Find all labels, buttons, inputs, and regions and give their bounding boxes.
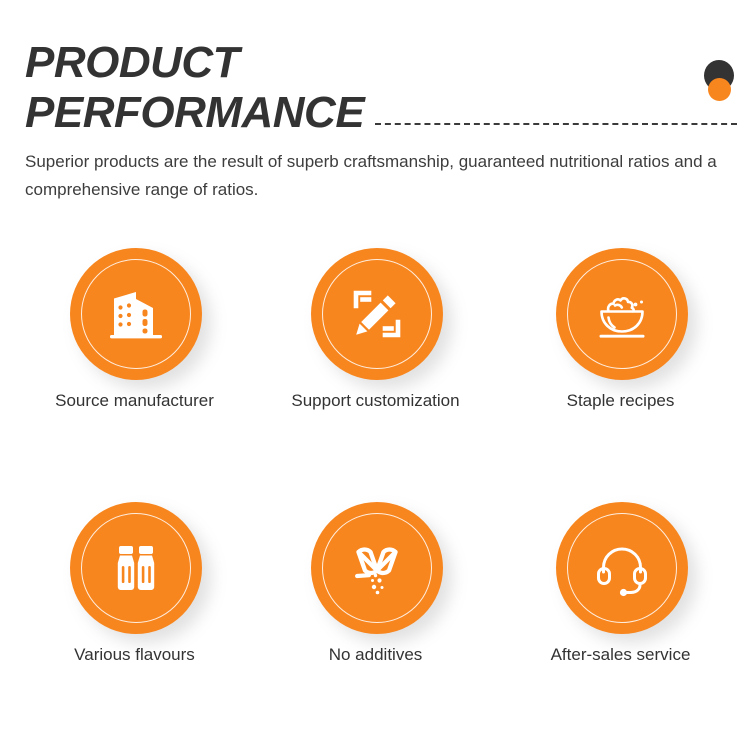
- page-header: PRODUCT PERFORMANCE Superior products ar…: [0, 0, 750, 215]
- feature-badge: [556, 248, 688, 380]
- page-title-line-2: PERFORMANCE: [25, 90, 425, 136]
- feature-badge: [70, 248, 202, 380]
- logo-mark: [700, 60, 742, 108]
- feature-row-bottom: Various flavours: [0, 484, 750, 737]
- badge-wrap: [12, 484, 257, 634]
- building-icon: [100, 278, 172, 350]
- rice-bowl-icon: [586, 278, 658, 350]
- feature-label: After-sales service: [498, 644, 743, 666]
- bottles-icon: [100, 532, 172, 604]
- page-title: PRODUCT PERFORMANCE: [25, 40, 425, 136]
- feature-label: Support customization: [253, 390, 498, 412]
- feature-card-various-flavours[interactable]: Various flavours: [12, 484, 257, 734]
- badge-wrap: [498, 230, 743, 380]
- page-title-line-1: PRODUCT: [25, 40, 425, 86]
- feature-row-top: Source manufacturer: [0, 230, 750, 485]
- feature-label: Staple recipes: [498, 390, 743, 412]
- feature-badge: [311, 502, 443, 634]
- feature-card-source-manufacturer[interactable]: Source manufacturer: [12, 230, 257, 480]
- feature-card-after-sales-service[interactable]: After-sales service: [498, 484, 743, 734]
- badge-wrap: [253, 484, 498, 634]
- feature-label: No additives: [253, 644, 498, 666]
- feature-badge: [311, 248, 443, 380]
- feature-label: Various flavours: [12, 644, 257, 666]
- product-performance-page: PRODUCT PERFORMANCE Superior products ar…: [0, 0, 750, 737]
- logo-orange-dot-icon: [708, 78, 731, 101]
- header-dashed-divider: [375, 123, 737, 125]
- headset-icon: [586, 532, 658, 604]
- feature-badge: [70, 502, 202, 634]
- feature-card-no-additives[interactable]: No additives: [253, 484, 498, 734]
- feature-card-support-customization[interactable]: Support customization: [253, 230, 498, 480]
- feature-label: Source manufacturer: [12, 390, 257, 412]
- badge-wrap: [253, 230, 498, 380]
- page-subtitle: Superior products are the result of supe…: [25, 148, 725, 204]
- badge-wrap: [498, 484, 743, 634]
- badge-wrap: [12, 230, 257, 380]
- capsules-icon: [341, 532, 413, 604]
- feature-badge: [556, 502, 688, 634]
- pencil-icon: [341, 278, 413, 350]
- feature-grid: Source manufacturer: [0, 230, 750, 730]
- feature-card-staple-recipes[interactable]: Staple recipes: [498, 230, 743, 480]
